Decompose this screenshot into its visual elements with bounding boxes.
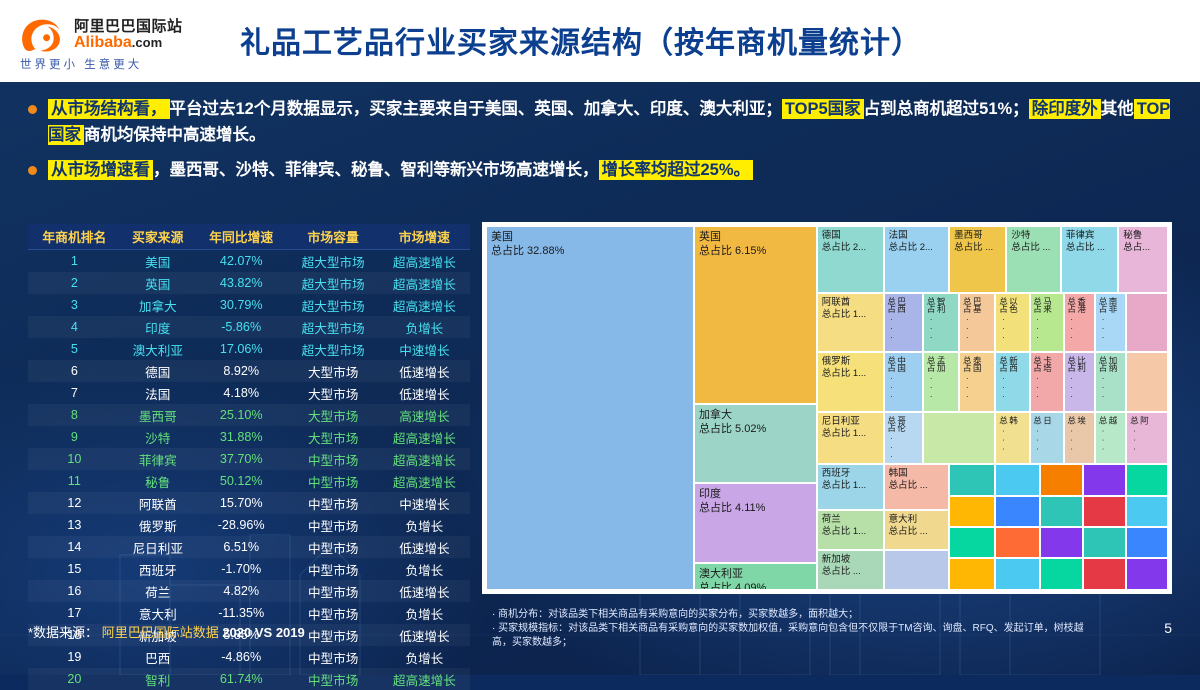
table-row[interactable]: 3加拿大30.79%超大型市场超高速增长 [28, 294, 470, 316]
cell-country: 阿联酋 [121, 492, 195, 514]
cell-market-size: 超大型市场 [288, 316, 379, 338]
cell-country: 荷兰 [121, 580, 195, 602]
treemap-cell-韩国[interactable]: 韩总... [995, 412, 1029, 465]
treemap-cell-label: 南非总占... [1098, 297, 1118, 339]
chart-footnotes: · 商机分布：对该品类下相关商品有采购意向的买家分布，买家数越多，面积越大； ·… [492, 608, 1092, 650]
treemap-cell-label: 日总... [1033, 416, 1053, 451]
cell-market-size: 中型市场 [288, 668, 379, 690]
cell-rank: 14 [28, 536, 121, 558]
table-row[interactable]: 19巴西-4.86%中型市场负增长 [28, 646, 470, 668]
page-number: 5 [1164, 620, 1172, 636]
treemap-cell-哥伦比亚[interactable]: 哥伦总占... [884, 412, 924, 465]
cell-rank: 10 [28, 448, 121, 470]
cell-market-size: 中型市场 [288, 602, 379, 624]
cell-country: 西班牙 [121, 558, 195, 580]
cell-market-speed: 负增长 [379, 514, 470, 536]
table-row[interactable]: 9沙特31.88%大型市场超高速增长 [28, 426, 470, 448]
slide-root: 阿里巴巴国际站 Alibaba.com 世界更小 生意更大 礼品工艺品行业买家来… [0, 0, 1200, 675]
cell-market-size: 超大型市场 [288, 294, 379, 316]
cell-market-size: 中型市场 [288, 558, 379, 580]
cell-rank: 3 [28, 294, 121, 316]
treemap-cell-label: 沙特总占比 ... [1011, 230, 1050, 254]
treemap-cell-加纳[interactable]: 加纳总占... [1095, 352, 1126, 412]
bullet-2-segment-1: 从市场增速看 [48, 160, 153, 180]
table-row[interactable]: 14尼日利亚6.51%中型市场低速增长 [28, 536, 470, 558]
table-row[interactable]: 10菲律宾37.70%中型市场超高速增长 [28, 448, 470, 470]
treemap-cell-grid-f[interactable] [949, 496, 995, 527]
treemap-cell-英国[interactable]: 英国总占比 6.15% [694, 226, 817, 404]
treemap-cell-label: 智利总占... [926, 297, 946, 339]
cell-growth: 61.74% [195, 668, 288, 690]
table-row[interactable]: 15西班牙-1.70%中型市场负增长 [28, 558, 470, 580]
cell-rank: 7 [28, 382, 121, 404]
cell-market-size: 超大型市场 [288, 272, 379, 294]
treemap-cell-label: 泰国总占... [962, 356, 982, 398]
treemap-cell-grid-a[interactable] [949, 464, 995, 495]
bullet-2-segment-2: ，墨西哥、沙特、菲律宾、秘鲁、智利等新兴市场高速增长， [153, 161, 599, 179]
treemap-cell-秘鲁2[interactable] [923, 412, 995, 465]
table-row[interactable]: 8墨西哥25.10%大型市场高速增长 [28, 404, 470, 426]
cell-market-speed: 低速增长 [379, 624, 470, 646]
cell-market-speed: 超高速增长 [379, 294, 470, 316]
cell-rank: 20 [28, 668, 121, 690]
bullet-1-segment-8: 商机均保持中高速增长。 [84, 126, 266, 144]
treemap-cell-阿根廷[interactable]: 阿总... [1126, 412, 1168, 465]
bullet-1-segment-3: TOP5国家 [782, 99, 864, 119]
treemap-cell-西班牙[interactable]: 西班牙总占比 1... [817, 464, 884, 510]
treemap-cell-新西兰[interactable]: 新西总占... [995, 352, 1029, 412]
treemap-cell-印度[interactable]: 印度总占比 4.11% [694, 483, 817, 563]
treemap-cell-label: 巴西总占... [887, 297, 907, 339]
treemap-cell-越南[interactable]: 越总... [1095, 412, 1126, 465]
treemap-cell-澳大利亚[interactable]: 澳大利亚总占比 4.09% [694, 563, 817, 590]
bullet-1-segment-1: 从市场结构看， [48, 99, 170, 119]
treemap-cell-label: 哥伦总占... [887, 416, 907, 458]
cell-growth: 17.06% [195, 338, 288, 360]
treemap-cell-尼日利亚[interactable]: 尼日利亚总占比 1... [817, 412, 884, 465]
bullet-1-segment-5: 除印度外 [1029, 99, 1101, 119]
cell-rank: 13 [28, 514, 121, 536]
treemap-cell-grid-m[interactable] [1040, 527, 1083, 558]
bullet-list: 从市场结构看，平台过去12个月数据显示，买家主要来自于美国、英国、加拿大、印度、… [26, 96, 1176, 192]
cell-market-speed: 超高速增长 [379, 426, 470, 448]
cell-market-speed: 低速增长 [379, 360, 470, 382]
treemap-cell-grid-l[interactable] [995, 527, 1040, 558]
cell-market-speed: 低速增长 [379, 382, 470, 404]
footnote-1: · 商机分布：对该品类下相关商品有采购意向的买家分布，买家数越多，面积越大； [492, 608, 1092, 622]
cell-market-size: 大型市场 [288, 360, 379, 382]
treemap-cell-比利时[interactable]: 比利总占... [1064, 352, 1095, 412]
cell-country: 菲律宾 [121, 448, 195, 470]
cell-rank: 4 [28, 316, 121, 338]
treemap-cell-label: 意大利总占比 ... [889, 514, 928, 538]
cell-country: 沙特 [121, 426, 195, 448]
logo-text-cn: 阿里巴巴国际站 [74, 15, 183, 36]
treemap-cell-意大利[interactable]: 意大利总占比 ... [884, 510, 949, 550]
cell-country: 俄罗斯 [121, 514, 195, 536]
page-title: 礼品工艺品行业买家来源结构（按年商机量统计） [240, 18, 922, 62]
treemap-cell-巴基斯坦[interactable]: 巴基总占... [959, 293, 995, 351]
treemap-cell-南非[interactable]: 南非总占... [1095, 293, 1126, 351]
treemap-cell-grid-e[interactable] [1126, 464, 1168, 495]
cell-growth: 4.18% [195, 382, 288, 404]
treemap-cell-label: 西班牙总占比 1... [822, 468, 866, 492]
cell-market-speed: 高速增长 [379, 404, 470, 426]
treemap-cell-label: 越总... [1098, 416, 1118, 451]
footnote-2-text: 买家规模指标：对该品类下相关商品有采购意向的买家数加权值，采购意向包含但不仅限于… [492, 623, 1084, 648]
cell-country: 美国 [121, 250, 195, 273]
treemap-cell-墨西哥[interactable]: 墨西哥总占比 ... [949, 226, 1006, 293]
cell-rank: 12 [28, 492, 121, 514]
treemap-cell-label: 美国总占比 32.88% [491, 230, 564, 258]
treemap-inner: 美国总占比 32.88%英国总占比 6.15%加拿大总占比 5.02%印度总占比… [486, 226, 1168, 590]
logo-dotcom: .com [132, 35, 162, 50]
treemap-cell-label: 德国总占比 2... [822, 230, 866, 254]
cell-market-speed: 超高速增长 [379, 470, 470, 492]
table-header-cell-3: 年同比增速 [195, 224, 288, 250]
treemap-cell-grid-s[interactable] [1083, 558, 1125, 590]
logo-slogan: 世界更小 生意更大 [20, 56, 142, 72]
treemap-cell-grid-n[interactable] [1083, 527, 1125, 558]
table-row[interactable]: 16荷兰4.82%中型市场低速增长 [28, 580, 470, 602]
cell-growth: 25.10% [195, 404, 288, 426]
treemap-cell-智利[interactable]: 智利总占... [923, 293, 959, 351]
table-row[interactable]: 1美国42.07%超大型市场超高速增长 [28, 250, 470, 273]
treemap-cell-其他2[interactable] [1126, 352, 1168, 412]
cell-growth: 42.07% [195, 250, 288, 273]
cell-country: 尼日利亚 [121, 536, 195, 558]
cell-market-speed: 超高速增长 [379, 272, 470, 294]
alibaba-logo-icon [18, 14, 70, 58]
cell-country: 德国 [121, 360, 195, 382]
table-row[interactable]: 20智利61.74%中型市场超高速增长 [28, 668, 470, 690]
treemap-cell-越南2[interactable] [884, 550, 949, 590]
cell-country: 加拿大 [121, 294, 195, 316]
cell-rank: 17 [28, 602, 121, 624]
cell-market-speed: 超高速增长 [379, 250, 470, 273]
source-line: *数据来源： 阿里巴巴国际站数据 2020 VS 2019 [28, 622, 305, 641]
treemap-cell-新加坡[interactable]: 新加坡总占比 ... [817, 550, 884, 590]
cell-country: 智利 [121, 668, 195, 690]
treemap-cell-grid-q[interactable] [995, 558, 1040, 590]
cell-growth: 4.82% [195, 580, 288, 602]
table-header-cell-5: 市场增速 [379, 224, 470, 250]
treemap-cell-label: 埃总... [1067, 416, 1087, 451]
treemap-cell-label: 秘鲁总占... [1123, 230, 1150, 254]
cell-market-size: 大型市场 [288, 404, 379, 426]
treemap-cell-label: 加拿大总占比 5.02% [699, 408, 766, 436]
treemap-cell-秘鲁[interactable]: 秘鲁总占... [1118, 226, 1168, 293]
treemap-cell-加拿大[interactable]: 加拿大总占比 5.02% [694, 404, 817, 482]
treemap-cell-韩国2[interactable]: 韩国总占比 ... [884, 464, 949, 510]
cell-country: 澳大利亚 [121, 338, 195, 360]
cell-rank: 2 [28, 272, 121, 294]
treemap-cell-label: 马来总占... [1033, 297, 1053, 339]
cell-market-size: 超大型市场 [288, 250, 379, 273]
treemap-cell-label: 荷兰总占比 1... [822, 514, 866, 538]
treemap-cell-label: 英国总占比 6.15% [699, 230, 766, 258]
cell-rank: 15 [28, 558, 121, 580]
table-row[interactable]: 5澳大利亚17.06%超大型市场中速增长 [28, 338, 470, 360]
bullet-1-segment-6: 其他 [1101, 100, 1134, 118]
cell-rank: 11 [28, 470, 121, 492]
cell-growth: 31.88% [195, 426, 288, 448]
treemap-cell-label: 卡塔总占... [1033, 356, 1053, 398]
bullet-item-2: 从市场增速看，墨西哥、沙特、菲律宾、秘鲁、智利等新兴市场高速增长，增长率均超过2… [26, 157, 1176, 183]
cell-growth: 43.82% [195, 272, 288, 294]
cell-rank: 5 [28, 338, 121, 360]
table-row[interactable]: 12阿联酋15.70%中型市场中速增长 [28, 492, 470, 514]
cell-country: 法国 [121, 382, 195, 404]
treemap-cell-label: 印度总占比 4.11% [699, 487, 765, 515]
treemap-cell-label: 墨西哥总占比 ... [954, 230, 993, 254]
footnote-1-text: 商机分布：对该品类下相关商品有采购意向的买家分布，买家数越多，面积越大； [498, 609, 858, 620]
treemap-cell-grid-k[interactable] [949, 527, 995, 558]
logo-en-word: Alibaba [74, 34, 132, 51]
cell-growth: 50.12% [195, 470, 288, 492]
treemap-cell-grid-b[interactable] [995, 464, 1040, 495]
cell-market-size: 超大型市场 [288, 338, 379, 360]
treemap-cell-其他1[interactable] [1126, 293, 1168, 351]
cell-market-speed: 负增长 [379, 558, 470, 580]
treemap-cell-俄罗斯[interactable]: 俄罗斯总占比 1... [817, 352, 884, 412]
treemap-cell-卡塔尔[interactable]: 卡塔总占... [1030, 352, 1064, 412]
cell-growth: 15.70% [195, 492, 288, 514]
header-bar: 阿里巴巴国际站 Alibaba.com 世界更小 生意更大 礼品工艺品行业买家来… [0, 0, 1200, 82]
treemap-cell-label: 韩总... [998, 416, 1018, 451]
cell-country: 英国 [121, 272, 195, 294]
ranking-table-wrap: 年商机排名买家来源年同比增速市场容量市场增速 1美国42.07%超大型市场超高速… [28, 224, 470, 690]
treemap-cell-label: 阿总... [1129, 416, 1149, 451]
cell-growth: -5.86% [195, 316, 288, 338]
treemap-cell-中国[interactable]: 中国总占... [884, 352, 924, 412]
cell-market-size: 中型市场 [288, 470, 379, 492]
bullet-1-segment-2: 平台过去12个月数据显示，买家主要来自于美国、英国、加拿大、印度、澳大利亚； [170, 100, 782, 118]
cell-market-size: 中型市场 [288, 580, 379, 602]
treemap-cell-label: 中国总占... [887, 356, 907, 398]
treemap-cell-阿联酋[interactable]: 阿联酋总占比 1... [817, 293, 884, 351]
treemap-cell-美国[interactable]: 美国总占比 32.88% [486, 226, 694, 590]
cell-market-speed: 中速增长 [379, 338, 470, 360]
footnote-2: · 买家规模指标：对该品类下相关商品有采购意向的买家数加权值，采购意向包含但不仅… [492, 622, 1092, 650]
cell-growth: 8.92% [195, 360, 288, 382]
treemap-cell-泰国[interactable]: 泰国总占... [959, 352, 995, 412]
alibaba-logo: 阿里巴巴国际站 Alibaba.com 世界更小 生意更大 [18, 10, 228, 72]
cell-market-size: 中型市场 [288, 448, 379, 470]
table-row[interactable]: 11秘鲁50.12%中型市场超高速增长 [28, 470, 470, 492]
ranking-table: 年商机排名买家来源年同比增速市场容量市场增速 1美国42.07%超大型市场超高速… [28, 224, 470, 690]
treemap-cell-荷兰[interactable]: 荷兰总占比 1... [817, 510, 884, 550]
treemap-cell-埃及[interactable]: 埃总... [1064, 412, 1095, 465]
cell-rank: 6 [28, 360, 121, 382]
cell-market-size: 中型市场 [288, 514, 379, 536]
source-org: 阿里巴巴国际站数据 [102, 625, 219, 640]
cell-rank: 19 [28, 646, 121, 668]
treemap-cell-label: 菲律宾总占比 ... [1066, 230, 1105, 254]
table-row[interactable]: 2英国43.82%超大型市场超高速增长 [28, 272, 470, 294]
table-row[interactable]: 7法国4.18%大型市场低速增长 [28, 382, 470, 404]
table-header-cell-2: 买家来源 [121, 224, 195, 250]
treemap-cell-label: 以色总占... [998, 297, 1018, 339]
cell-country: 印度 [121, 316, 195, 338]
cell-growth: -11.35% [195, 602, 288, 624]
source-prefix: *数据来源： [28, 625, 98, 640]
cell-growth: 30.79% [195, 294, 288, 316]
cell-rank: 9 [28, 426, 121, 448]
treemap-cell-label: 阿联酋总占比 1... [822, 297, 866, 321]
cell-market-size: 大型市场 [288, 426, 379, 448]
bullet-1-segment-4: 占到总商机超过51%； [864, 100, 1029, 118]
cell-growth: -4.86% [195, 646, 288, 668]
treemap-cell-label: 比利总占... [1067, 356, 1087, 398]
treemap-cell-label: 新西总占... [998, 356, 1018, 398]
treemap-cell-巴西[interactable]: 巴西总占... [884, 293, 924, 351]
cell-rank: 16 [28, 580, 121, 602]
table-header-row: 年商机排名买家来源年同比增速市场容量市场增速 [28, 224, 470, 250]
cell-market-speed: 中速增长 [379, 492, 470, 514]
treemap-cell-label: 韩国总占比 ... [889, 468, 928, 492]
cell-growth: 37.70% [195, 448, 288, 470]
treemap-cell-grid-p[interactable] [949, 558, 995, 590]
cell-market-speed: 负增长 [379, 602, 470, 624]
treemap-cell-label: 法国总占比 2... [889, 230, 933, 254]
cell-market-size: 中型市场 [288, 492, 379, 514]
treemap-cell-label: 加纳总占... [1098, 356, 1118, 398]
treemap-chart: 美国总占比 32.88%英国总占比 6.15%加拿大总占比 5.02%印度总占比… [482, 222, 1172, 594]
cell-market-speed: 超高速增长 [379, 668, 470, 690]
table-row[interactable]: 6德国8.92%大型市场低速增长 [28, 360, 470, 382]
treemap-cell-grid-j[interactable] [1126, 496, 1168, 527]
treemap-cell-grid-d[interactable] [1083, 464, 1125, 495]
table-row[interactable]: 4印度-5.86%超大型市场负增长 [28, 316, 470, 338]
cell-market-size: 中型市场 [288, 536, 379, 558]
logo-text-en: Alibaba.com [74, 34, 162, 52]
table-row[interactable]: 13俄罗斯-28.96%中型市场负增长 [28, 514, 470, 536]
cell-country: 秘鲁 [121, 470, 195, 492]
treemap-cell-grid-t[interactable] [1126, 558, 1168, 590]
cell-country: 巴西 [121, 646, 195, 668]
cell-growth: 6.51% [195, 536, 288, 558]
cell-growth: -1.70% [195, 558, 288, 580]
treemap-cell-沙特[interactable]: 沙特总占比 ... [1006, 226, 1061, 293]
cell-market-speed: 负增长 [379, 316, 470, 338]
cell-growth: -28.96% [195, 514, 288, 536]
cell-market-speed: 负增长 [379, 646, 470, 668]
treemap-cell-孟加拉[interactable]: 孟加总占... [923, 352, 959, 412]
treemap-cell-grid-i[interactable] [1083, 496, 1125, 527]
bullet-item-1: 从市场结构看，平台过去12个月数据显示，买家主要来自于美国、英国、加拿大、印度、… [26, 96, 1176, 148]
treemap-cell-grid-o[interactable] [1126, 527, 1168, 558]
treemap-cell-马来西亚[interactable]: 马来总占... [1030, 293, 1064, 351]
treemap-cell-德国[interactable]: 德国总占比 2... [817, 226, 884, 293]
table-row[interactable]: 17意大利-11.35%中型市场负增长 [28, 602, 470, 624]
treemap-cell-grid-h[interactable] [1040, 496, 1083, 527]
cell-country: 意大利 [121, 602, 195, 624]
treemap-cell-grid-c[interactable] [1040, 464, 1083, 495]
table-header-cell-4: 市场容量 [288, 224, 379, 250]
treemap-cell-以色列[interactable]: 以色总占... [995, 293, 1029, 351]
treemap-cell-grid-g[interactable] [995, 496, 1040, 527]
cell-market-speed: 超高速增长 [379, 448, 470, 470]
cell-market-size: 中型市场 [288, 646, 379, 668]
treemap-cell-label: 澳大利亚总占比 4.09% [699, 567, 766, 590]
treemap-cell-label: 香港总占... [1067, 297, 1087, 339]
cell-market-size: 大型市场 [288, 382, 379, 404]
table-header-cell-1: 年商机排名 [28, 224, 121, 250]
cell-country: 墨西哥 [121, 404, 195, 426]
treemap-cell-label: 俄罗斯总占比 1... [822, 356, 866, 380]
treemap-cell-label: 尼日利亚总占比 1... [822, 416, 866, 440]
cell-rank: 1 [28, 250, 121, 273]
treemap-cell-菲律宾[interactable]: 菲律宾总占比 ... [1061, 226, 1118, 293]
treemap-cell-label: 孟加总占... [926, 356, 946, 398]
treemap-cell-香港[interactable]: 香港总占... [1064, 293, 1095, 351]
treemap-cell-label: 新加坡总占比 ... [822, 554, 861, 578]
cell-market-speed: 低速增长 [379, 580, 470, 602]
source-years: 2020 VS 2019 [222, 625, 304, 640]
treemap-cell-法国[interactable]: 法国总占比 2... [884, 226, 949, 293]
treemap-cell-label: 巴基总占... [962, 297, 982, 339]
cell-market-speed: 低速增长 [379, 536, 470, 558]
cell-rank: 8 [28, 404, 121, 426]
treemap-cell-日本[interactable]: 日总... [1030, 412, 1064, 465]
bullet-2-segment-3: 增长率均超过25%。 [599, 160, 754, 180]
treemap-cell-grid-r[interactable] [1040, 558, 1083, 590]
